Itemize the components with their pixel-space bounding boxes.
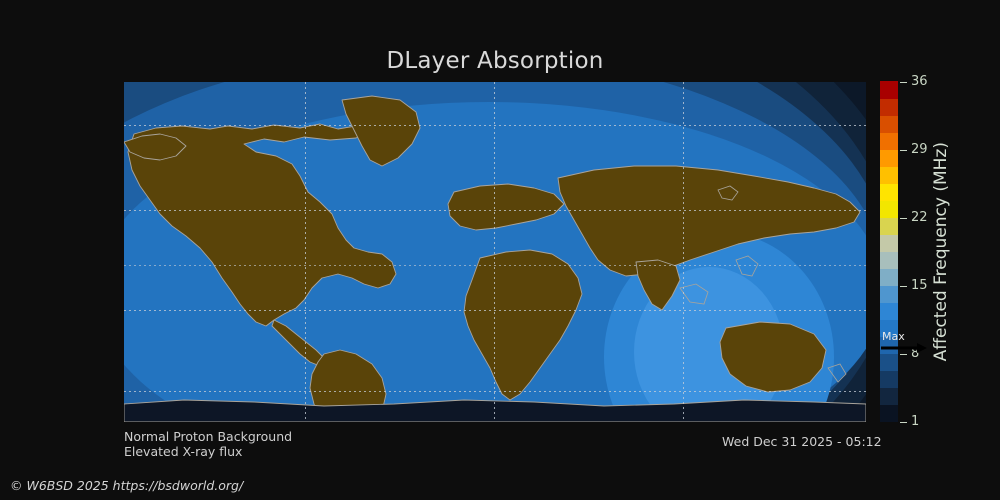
figure-canvas: DLayer Absorption	[0, 0, 1000, 500]
gridline-lat-0	[124, 265, 866, 266]
landmass-europe	[448, 184, 564, 230]
colorbar-segment	[880, 234, 898, 252]
landmass-india	[636, 260, 680, 310]
colorbar-segment	[880, 200, 898, 218]
colorbar[interactable]: 1815222936 Max	[880, 82, 898, 422]
colorbar-tick	[900, 150, 907, 151]
arrow-right-icon	[881, 343, 927, 353]
world-map[interactable]	[124, 82, 866, 422]
colorbar-segment	[880, 370, 898, 388]
colorbar-tick	[900, 286, 907, 287]
landmass-africa	[464, 250, 582, 400]
note-xray-flux: Elevated X-ray flux	[124, 444, 242, 459]
landmass-australia	[720, 322, 826, 392]
colorbar-tick-label: 36	[911, 74, 928, 89]
gridline-lon-m90	[305, 82, 306, 422]
page-title: DLayer Absorption	[0, 48, 990, 74]
colorbar-segment	[880, 183, 898, 201]
colorbar-segment	[880, 251, 898, 269]
colorbar-max-label: Max	[882, 330, 905, 343]
landmass-central-america	[272, 320, 324, 366]
note-proton-background: Normal Proton Background	[124, 429, 292, 444]
gridline-lat-m30	[124, 310, 866, 311]
colorbar-axis-label-text: Affected Frequency (MHz)	[931, 142, 951, 361]
colorbar-segment	[880, 81, 898, 99]
gridline-lat-m60	[124, 391, 866, 392]
colorbar-segment	[880, 132, 898, 150]
colorbar-segment	[880, 268, 898, 286]
landmass-asia	[558, 166, 860, 276]
colorbar-segment	[880, 149, 898, 167]
gridline-lat-60	[124, 125, 866, 126]
colorbar-tick	[900, 82, 907, 83]
colorbar-segment	[880, 217, 898, 235]
timestamp: Wed Dec 31 2025 - 05:12	[722, 434, 882, 449]
colorbar-tick-label: 29	[911, 142, 928, 157]
colorbar-tick	[900, 422, 907, 423]
colorbar-segment	[880, 387, 898, 405]
colorbar-tick-label: 22	[911, 210, 928, 225]
colorbar-segment	[880, 98, 898, 116]
gridline-lon-0	[494, 82, 495, 422]
colorbar-segment	[880, 166, 898, 184]
colorbar-segment	[880, 285, 898, 303]
colorbar-segment	[880, 302, 898, 320]
colorbar-gradient	[880, 82, 898, 422]
gridline-lon-90	[683, 82, 684, 422]
gridline-lat-30	[124, 210, 866, 211]
colorbar-axis-label: Affected Frequency (MHz)	[930, 82, 952, 422]
colorbar-segment	[880, 115, 898, 133]
colorbar-tick	[900, 218, 907, 219]
colorbar-tick-label: 1	[911, 414, 919, 429]
coastlines-layer	[124, 82, 866, 422]
colorbar-segment	[880, 404, 898, 422]
copyright-notice[interactable]: © W6BSD 2025 https://bsdworld.org/	[10, 478, 243, 493]
colorbar-tick-label: 15	[911, 278, 928, 293]
landmass-antarctica	[124, 400, 866, 422]
